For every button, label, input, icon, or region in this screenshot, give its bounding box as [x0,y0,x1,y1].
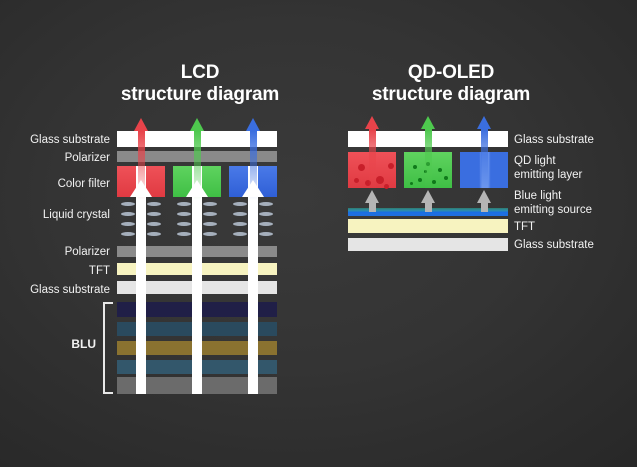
liquid-crystal-molecule [177,212,191,216]
quantum-dot-red [376,176,384,184]
qdoled-label-glass-substrate-top: Glass substrate [514,134,634,148]
qdoled-tft-layer [348,219,508,233]
liquid-crystal-molecule [147,232,161,236]
qdoled-label-blue-light-emitting-source: Blue light emitting source [514,190,634,217]
liquid-crystal-molecule [147,222,161,226]
liquid-crystal-molecule [147,202,161,206]
lcd-label-glass-substrate-bottom: Glass substrate [0,284,110,298]
liquid-crystal-molecule [259,232,273,236]
liquid-crystal-molecule [203,202,217,206]
qdoled-emitted-arrow-green-shaft [425,129,432,190]
lcd-backlight-arrow-head [186,180,208,197]
qdoled-emitted-arrow-blue-head [477,116,491,129]
lcd-backlight-beam [136,166,146,394]
liquid-crystal-molecule [177,232,191,236]
liquid-crystal-molecule [259,212,273,216]
lcd-label-glass-substrate-top: Glass substrate [0,134,110,148]
qdoled-glass-substrate-bottom-layer [348,238,508,251]
liquid-crystal-molecule [259,202,273,206]
qdoled-source-arrow-1-head [365,190,379,203]
lcd-emitted-arrow-red-head [134,118,148,131]
quantum-dot-green [432,180,436,184]
lcd-label-polarizer-top: Polarizer [0,152,110,166]
lcd-label-polarizer-bottom: Polarizer [0,246,110,260]
lcd-label-blu: BLU [0,338,96,352]
diagram-canvas: LCD structure diagram QD-OLED structure … [0,0,637,467]
qdoled-source-arrow-2-head [421,190,435,203]
quantum-dot-green [418,178,422,182]
quantum-dot-green [413,165,417,169]
qdoled-emitted-arrow-green-head [421,116,435,129]
liquid-crystal-molecule [233,232,247,236]
liquid-crystal-molecule [233,202,247,206]
quantum-dot-red [354,178,359,183]
qdoled-blue-line [348,213,508,216]
lcd-label-color-filter: Color filter [0,178,110,192]
qdoled-emitted-arrow-blue-shaft [481,129,488,190]
qdoled-title: QD-OLED structure diagram [348,62,554,106]
qdoled-emitted-arrow-red-head [365,116,379,129]
liquid-crystal-molecule [233,212,247,216]
liquid-crystal-molecule [147,212,161,216]
quantum-dot-red [384,184,389,189]
lcd-backlight-arrow-head [242,180,264,197]
lcd-backlight-beam [248,166,258,394]
qdoled-label-tft: TFT [514,221,634,235]
liquid-crystal-molecule [177,222,191,226]
quantum-dot-green [444,176,448,180]
liquid-crystal-molecule [259,222,273,226]
liquid-crystal-molecule [233,222,247,226]
quantum-dot-green [410,182,413,185]
qdoled-source-arrow-3-head [477,190,491,203]
liquid-crystal-molecule [203,212,217,216]
lcd-emitted-arrow-green-head [190,118,204,131]
blu-bracket [103,302,113,394]
lcd-backlight-beam [192,166,202,394]
liquid-crystal-molecule [121,202,135,206]
liquid-crystal-molecule [121,232,135,236]
qdoled-label-glass-substrate-bottom: Glass substrate [514,239,634,253]
liquid-crystal-molecule [177,202,191,206]
qdoled-source-arrow-3-shaft [481,203,488,212]
qdoled-source-arrow-1-shaft [369,203,376,212]
lcd-emitted-arrow-blue-head [246,118,260,131]
liquid-crystal-molecule [121,212,135,216]
lcd-label-tft: TFT [0,265,110,279]
liquid-crystal-molecule [203,232,217,236]
quantum-dot-green [438,168,442,172]
lcd-backlight-arrow-head [130,180,152,197]
lcd-title: LCD structure diagram [97,62,303,106]
qdoled-emitted-arrow-red-shaft [369,129,376,190]
qdoled-source-arrow-2-shaft [425,203,432,212]
quantum-dot-red [358,164,365,171]
quantum-dot-red [388,163,394,169]
liquid-crystal-molecule [203,222,217,226]
lcd-label-liquid-crystal: Liquid crystal [0,209,110,223]
liquid-crystal-molecule [121,222,135,226]
qdoled-label-qd-light-emitting-layer: QD light emitting layer [514,155,634,182]
